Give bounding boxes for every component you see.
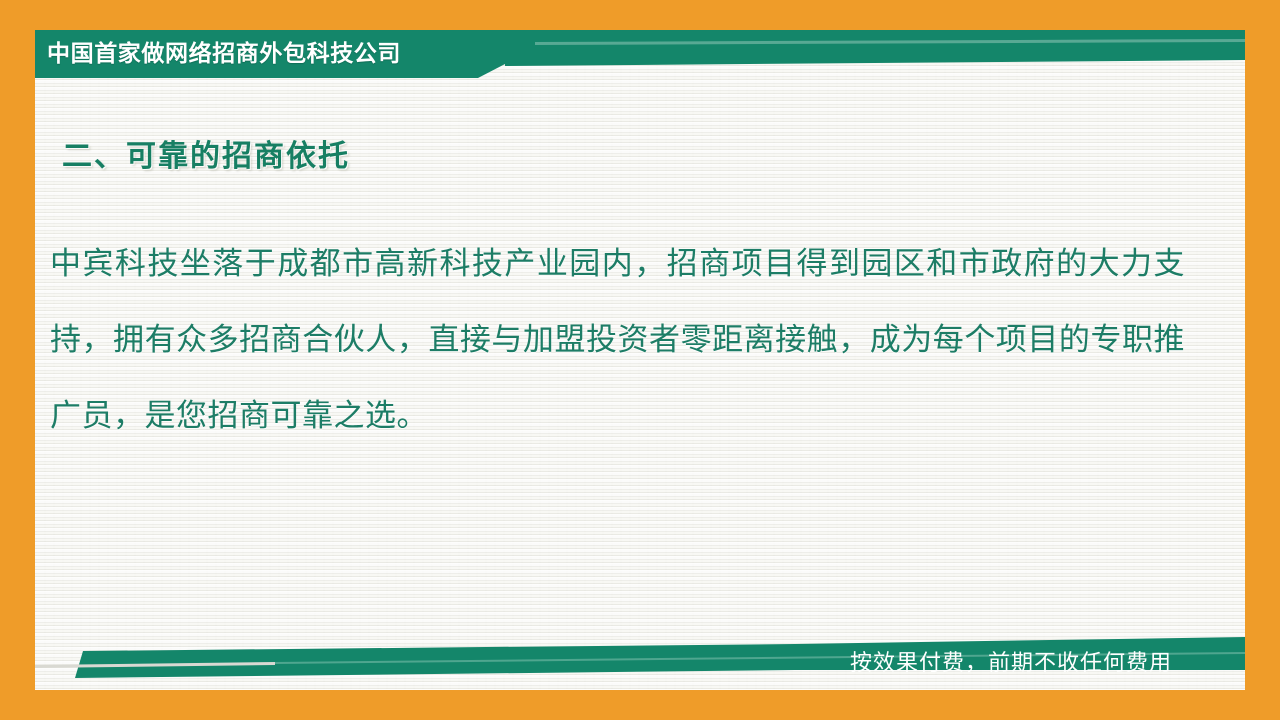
header-title: 中国首家做网络招商外包科技公司 bbox=[47, 37, 401, 69]
footer-tagline: 按效果付费，前期不收任何费用 bbox=[850, 648, 1172, 678]
body-paragraph: 中宾科技坐落于成都市高新科技产业园内，招商项目得到园区和市政府的大力支持，拥有众… bbox=[50, 226, 1185, 454]
section-heading: 二、可靠的招商依托 bbox=[62, 136, 350, 178]
slide-root: 中国首家做网络招商外包科技公司 二、可靠的招商依托 中宾科技坐落于成都市高新科技… bbox=[0, 0, 1280, 720]
